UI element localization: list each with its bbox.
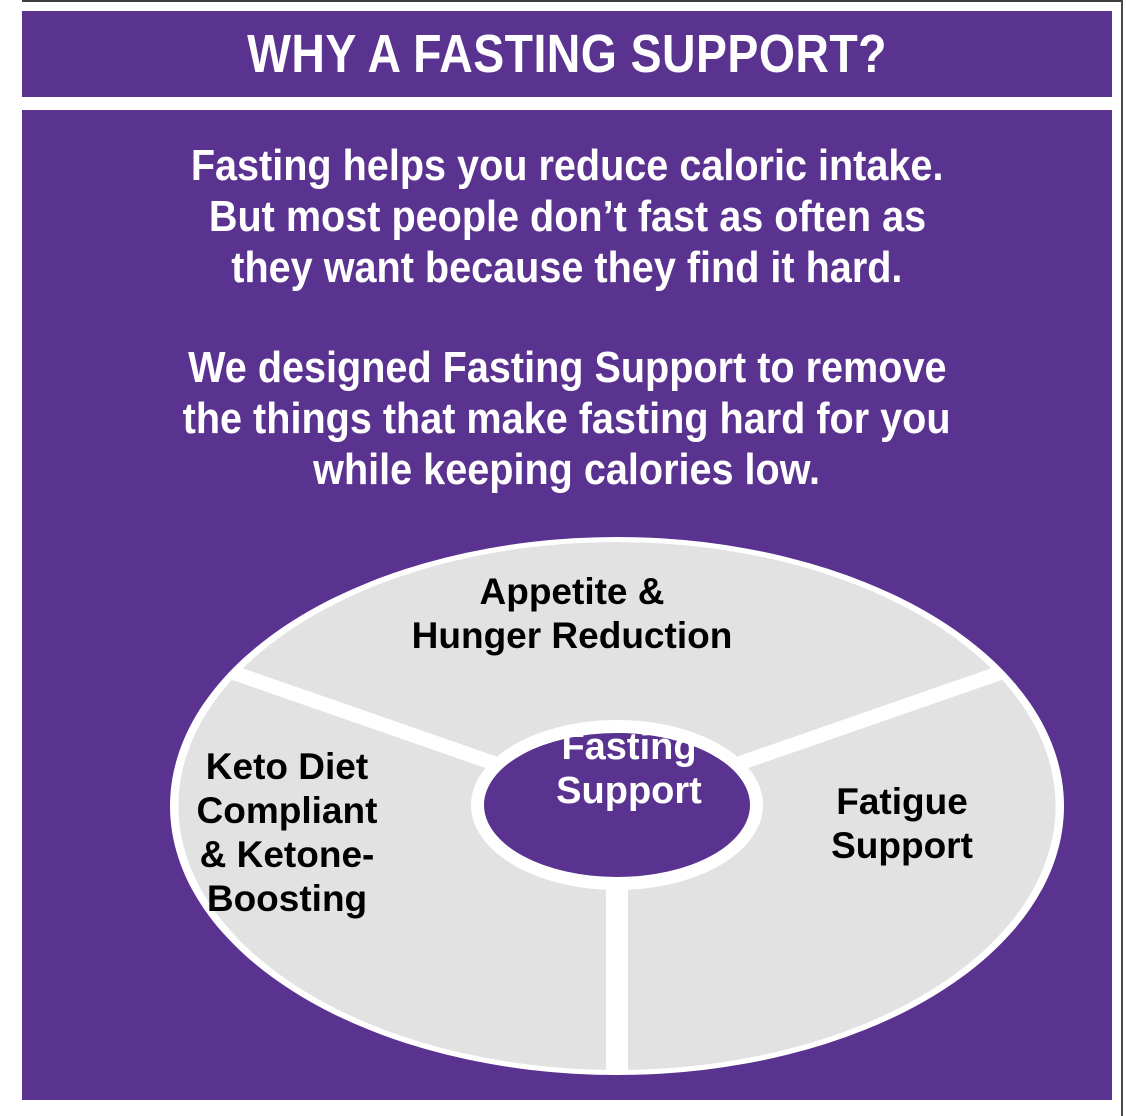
paragraph-2-line-1: We designed Fasting Support to remove: [188, 342, 946, 393]
paragraph-1-line-2: But most people don’t fast as often as: [208, 191, 925, 242]
top-edge-rule: [22, 0, 1123, 2]
right-edge-rule: [1121, 0, 1123, 1116]
paragraph-1-line-3: they want because they find it hard.: [231, 242, 902, 293]
paragraph-2-line-3: while keeping calories low.: [314, 444, 821, 495]
body-copy: Fasting helps you reduce caloric intake.…: [22, 140, 1112, 495]
page-title-text: WHY A FASTING SUPPORT?: [247, 25, 887, 83]
page-title: WHY A FASTING SUPPORT?: [22, 25, 1112, 83]
body-panel: Fasting helps you reduce caloric intake.…: [22, 110, 1112, 1100]
fasting-support-diagram: Appetite & Hunger Reduction Keto Diet Co…: [22, 510, 1112, 1100]
paragraph-1-line-1: Fasting helps you reduce caloric intake.: [191, 140, 944, 191]
slide-canvas: WHY A FASTING SUPPORT? Fasting helps you…: [0, 0, 1126, 1116]
paragraph-2: We designed Fasting Support to remove th…: [22, 342, 1112, 495]
paragraph-1: Fasting helps you reduce caloric intake.…: [22, 140, 1112, 293]
segment-label-keto: Keto Diet Compliant & Ketone- Boosting: [132, 745, 442, 921]
paragraph-2-line-2: the things that make fasting hard for yo…: [183, 393, 951, 444]
segment-label-appetite: Appetite & Hunger Reduction: [327, 570, 817, 658]
hub-label: Fasting Support: [484, 725, 774, 813]
segment-label-fatigue: Fatigue Support: [757, 780, 1047, 868]
title-band: WHY A FASTING SUPPORT?: [22, 11, 1112, 97]
paragraph-spacer: [22, 293, 1112, 342]
